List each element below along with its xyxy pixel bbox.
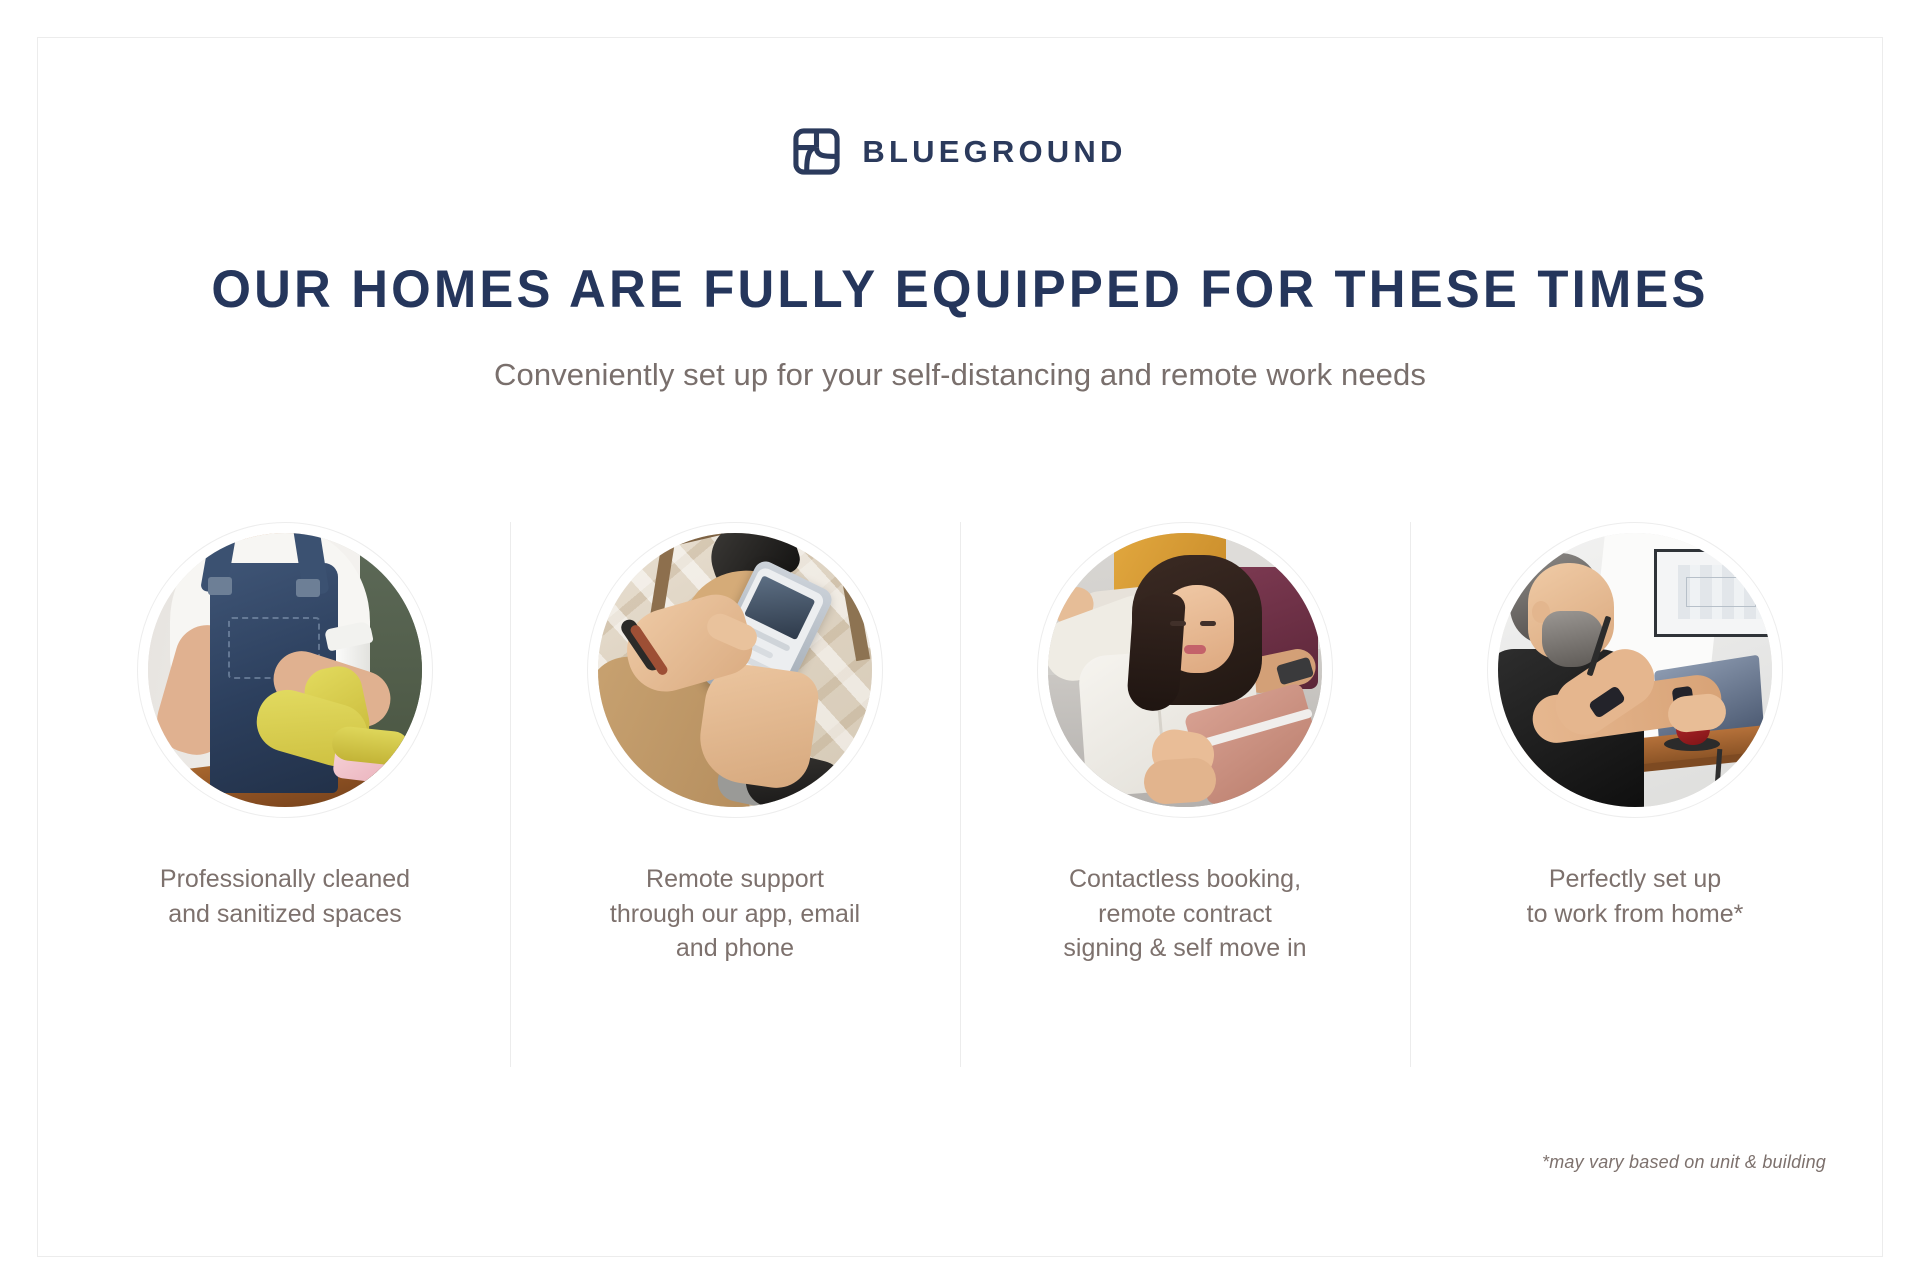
contactless-booking-photo — [1048, 533, 1322, 807]
brand-lockup: BLUEGROUND — [0, 128, 1920, 175]
cleaning-photo — [148, 533, 422, 807]
footnote-disclaimer: *may vary based on unit & building — [1542, 1152, 1826, 1173]
brand-wordmark: BLUEGROUND — [862, 136, 1126, 167]
feature-card-remote-support: Remote support through our app, email an… — [510, 522, 960, 1067]
feature-caption: Contactless booking, remote contract sig… — [1063, 862, 1306, 966]
feature-card-work-from-home: Perfectly set up to work from home* — [1410, 522, 1860, 1067]
feature-card-contactless-booking: Contactless booking, remote contract sig… — [960, 522, 1410, 1067]
feature-caption: Remote support through our app, email an… — [610, 862, 860, 966]
feature-caption: Perfectly set up to work from home* — [1527, 862, 1744, 931]
page-subtitle: Conveniently set up for your self-distan… — [0, 355, 1920, 395]
remote-support-photo — [598, 533, 872, 807]
feature-caption: Professionally cleaned and sanitized spa… — [160, 862, 410, 931]
contactless-booking-photo-ring — [1037, 522, 1333, 818]
work-from-home-photo — [1498, 533, 1772, 807]
remote-support-photo-ring — [587, 522, 883, 818]
page-title: OUR HOMES ARE FULLY EQUIPPED FOR THESE T… — [38, 262, 1881, 318]
cleaning-photo-ring — [137, 522, 433, 818]
marketing-poster: BLUEGROUND OUR HOMES ARE FULLY EQUIPPED … — [0, 0, 1920, 1280]
feature-card-row: Professionally cleaned and sanitized spa… — [60, 522, 1860, 1067]
work-from-home-photo-ring — [1487, 522, 1783, 818]
feature-card-cleaning: Professionally cleaned and sanitized spa… — [60, 522, 510, 1067]
blueground-square-icon — [793, 128, 840, 175]
